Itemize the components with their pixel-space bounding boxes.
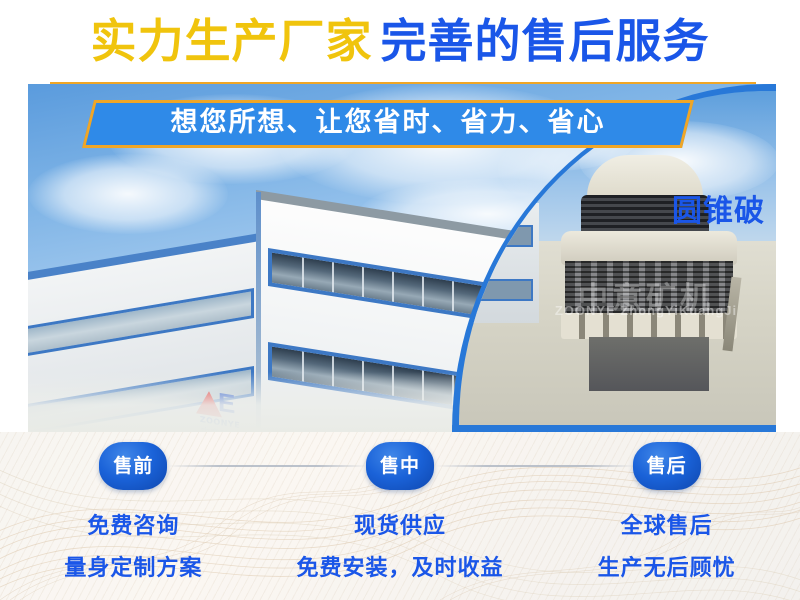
step-text-line1: 全球售后 [533, 508, 800, 540]
headline-part-yellow: 实力生产厂家 [91, 14, 373, 68]
step-text-line1: 免费咨询 [0, 508, 267, 540]
service-step-insale: 售中 现货供应 免费安装，及时收益 [267, 432, 534, 600]
watermark-english: ZOONYE ZhongYiKuangJi [521, 303, 771, 318]
service-steps-list: 售前 免费咨询 量身定制方案 售中 现货供应 免费安装，及时收益 售后 全球售后… [0, 432, 800, 600]
inset-building-window [463, 225, 533, 247]
step-badge-insale: 售中 [366, 442, 434, 490]
step-badge-aftersale: 售后 [633, 442, 701, 490]
step-badge-presale: 售前 [99, 442, 167, 490]
service-step-aftersale: 售后 全球售后 生产无后顾忧 [533, 432, 800, 600]
step-text-line2: 生产无后顾忧 [533, 550, 800, 582]
product-label: 圆锥破 [672, 186, 765, 230]
service-process-section: 售前 免费咨询 量身定制方案 售中 现货供应 免费安装，及时收益 售后 全球售后… [0, 432, 800, 600]
promo-banner: 实力生产厂家完善的售后服务 [0, 0, 800, 600]
step-text-line1: 现货供应 [267, 508, 534, 540]
step-text-line2: 免费安装，及时收益 [267, 550, 534, 582]
slogan-ribbon-text: 想您所想、让您省时、省力、省心 [88, 100, 688, 148]
page-title: 实力生产厂家完善的售后服务 [0, 8, 800, 74]
service-step-presale: 售前 免费咨询 量身定制方案 [0, 432, 267, 600]
headline-part-blue: 完善的售后服务 [381, 14, 710, 68]
step-text-line2: 量身定制方案 [0, 550, 267, 582]
crusher-base-block [589, 337, 709, 391]
crusher-upper-frame [561, 231, 737, 265]
